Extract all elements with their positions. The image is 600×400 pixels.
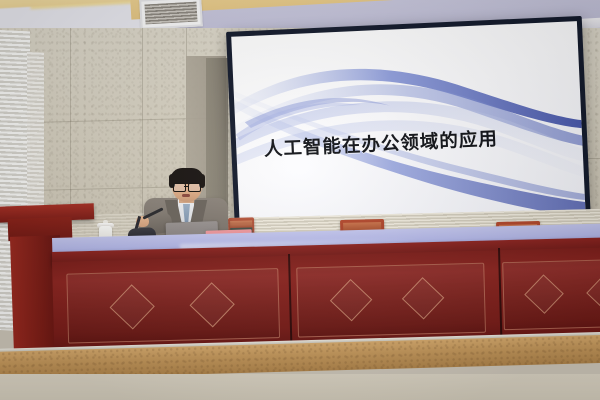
chair-top-rail — [230, 220, 253, 227]
diamond-motif — [190, 282, 235, 327]
diamond-motif — [330, 279, 372, 321]
diamond-motif — [110, 284, 155, 329]
air-vent-louvers — [144, 2, 197, 25]
led-screen-bezel: 人工智能在办公领域的应用 — [226, 16, 591, 234]
floor — [0, 374, 600, 400]
table-panel — [66, 268, 280, 344]
glasses-icon — [173, 183, 186, 192]
table-panel — [502, 259, 600, 330]
glasses-bridge — [184, 186, 188, 187]
table-panel — [296, 263, 486, 338]
diamond-motif — [586, 273, 600, 313]
diamond-motif — [402, 277, 444, 319]
diamond-motif — [524, 274, 564, 314]
led-screen-display: 人工智能在办公领域的应用 — [231, 21, 585, 228]
presenter-mouth — [182, 194, 190, 197]
glasses-icon — [188, 183, 201, 192]
air-vent-icon — [139, 0, 203, 30]
conference-room-scene: 人工智能在办公领域的应用 — [0, 0, 600, 400]
